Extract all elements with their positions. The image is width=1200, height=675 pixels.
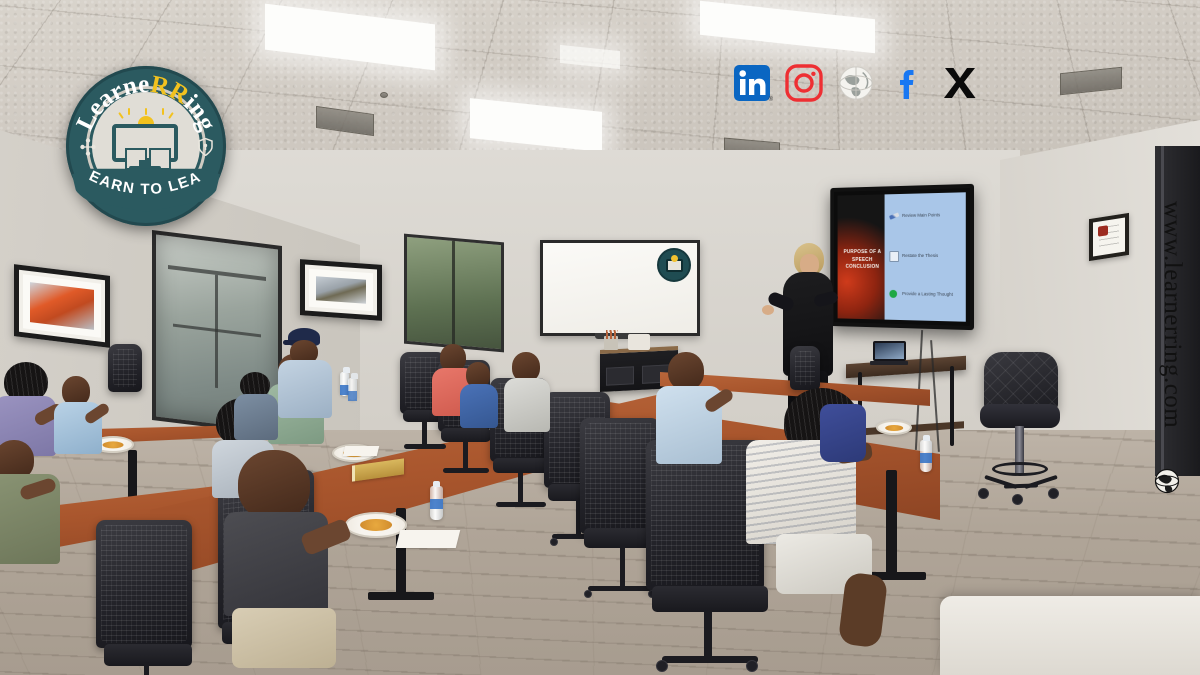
svg-text:LEARN TO LEAD: LEARN TO LEAD [72,166,204,198]
observer-body [234,394,278,440]
sun-ray [162,108,164,115]
laptop-keyboard [870,361,908,365]
drafting-chair-back [984,352,1058,412]
exterior-window [404,234,504,353]
certificate-frame [1089,213,1129,261]
chair-post [518,471,523,505]
chair-post [463,440,468,470]
student-body [504,378,550,432]
aircraft-photo [300,259,382,321]
sun-icon [671,255,678,262]
green-dot-icon [889,290,897,298]
slide-bullet-3: Provide a Lasting Thought [902,291,962,297]
chair-mesh [795,351,815,385]
water-bottle-5 [348,378,357,400]
linkedin-icon[interactable]: ® [732,63,772,103]
helicopter-photo [14,264,110,348]
document-icon [889,251,899,262]
observer-body [278,360,332,418]
table-center-foot [368,592,434,600]
chair-post [620,546,625,590]
chair-base [496,502,546,507]
photo-image [30,282,94,330]
slide-bullet-2: Restate the Thesis [902,253,962,258]
chair-base [662,656,758,663]
slide-bullet-1: Review Main Points [902,212,962,218]
water-bottle-1 [430,486,443,520]
student-body [820,404,866,462]
sofa [940,596,1200,675]
student-head [238,450,310,520]
napkin-2 [343,446,379,456]
presenter-left-hand [762,305,774,315]
logo-tagline: LEARN TO LEAD [72,166,220,212]
drafting-chair-base [984,474,1058,490]
website-url-text: www.learnerring.com [1158,201,1186,428]
table-right-leg [886,470,897,578]
student-shorts [232,608,336,668]
student-body [224,512,328,616]
logo-banner: LEARN TO LEAD [72,166,220,212]
chair-mesh [585,423,655,529]
drafting-chair-wheel [1012,494,1023,505]
chair-base [588,586,654,591]
sun-ray [128,108,130,115]
laptop-screen [873,341,906,361]
whiteboard [540,240,700,336]
water-bottle-4 [920,440,932,472]
paper-plate-1 [345,512,407,538]
logo-tagline-text: LEARN TO LEAD [72,166,204,198]
chair-post [704,610,712,660]
network-node-icon [80,138,96,156]
chair-base [404,444,446,449]
classroom-photo-scene: PURPOSE OF A SPEECH CONCLUSION Review Ma… [0,0,1200,675]
pencil-icon [889,213,899,220]
facebook-icon[interactable] [888,63,928,103]
tissue-box [628,334,650,350]
presentation-tv: PURPOSE OF A SPEECH CONCLUSION Review Ma… [830,184,974,330]
drafting-chair-wheel [978,488,989,499]
x-twitter-icon[interactable] [940,63,980,103]
napkin-1 [396,530,460,548]
chair-base [443,468,489,473]
smoke-detector-icon [380,92,388,98]
chair-wheel [550,538,558,546]
chair-mesh [101,525,187,643]
shield-icon [198,138,213,156]
drafting-chair [978,352,1062,502]
paper-plate-4 [876,420,912,435]
laptop [870,341,908,365]
website-watermark: www.learnerring.com [1158,170,1186,460]
chair-seat [652,586,768,612]
certificate-seal-icon [1098,225,1108,237]
monitor-icon [112,116,178,168]
social-icon-bar[interactable]: ® [732,58,994,108]
drafting-chair-wheel [1048,488,1059,499]
chair-back [790,346,820,390]
chair-wheel [584,590,592,598]
credenza-shelf-left [606,366,634,385]
slide-title: PURPOSE OF A SPEECH CONCLUSION [841,249,883,271]
chair-post [422,420,427,446]
chair-back [108,344,142,392]
drafting-chair-seat [980,404,1060,428]
globe-icon[interactable] [836,63,876,103]
chair-wheel [656,660,668,672]
slide-body: Review Main Points Restate the Thesis Pr… [885,192,966,321]
watermark-globe-icon [1154,468,1180,494]
tv-screen: PURPOSE OF A SPEECH CONCLUSION Review Ma… [838,192,966,321]
student-head [668,352,704,390]
instagram-icon[interactable] [784,63,824,103]
sun-ray [145,108,147,115]
whiteboard-logo-icon [657,248,691,282]
brand-logo[interactable]: LearneRRing [66,66,226,226]
student-body [460,384,498,428]
chair-post [144,662,149,675]
pen-holder [606,330,618,339]
chair-wheel [746,660,758,672]
photo-image [316,276,366,303]
monitor-screen [112,124,178,162]
desk-leg-right [950,366,954,446]
chair-mesh [651,445,759,585]
chair-back [96,520,192,648]
chair-mesh [113,349,137,387]
